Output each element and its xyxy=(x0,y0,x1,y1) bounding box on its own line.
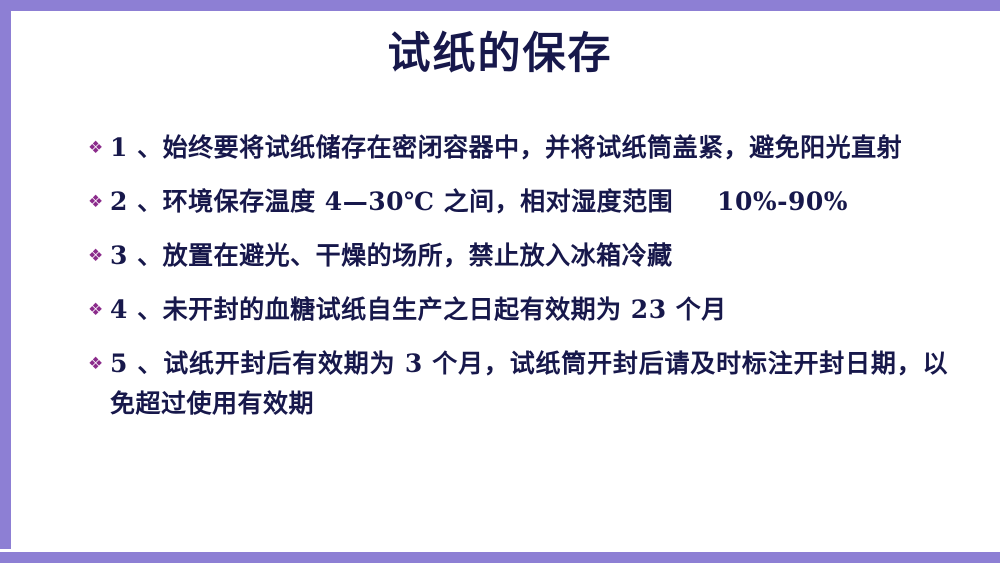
diamond-bullet-icon: ❖ xyxy=(88,344,110,384)
diamond-bullet-icon: ❖ xyxy=(88,182,110,222)
list-item-text: 3 、放置在避光、干燥的场所，禁止放入冰箱冷藏 xyxy=(110,236,948,276)
decorative-top-bar xyxy=(0,0,1000,11)
diamond-bullet-icon: ❖ xyxy=(88,290,110,330)
list-item-text: 5 、试纸开封后有效期为 3 个月，试纸筒开封后请及时标注开封日期，以免超过使用… xyxy=(110,344,948,424)
list-item: ❖ 2 、环境保存温度 4—30℃ 之间，相对湿度范围 10%-90% xyxy=(88,182,948,222)
list-item: ❖ 5 、试纸开封后有效期为 3 个月，试纸筒开封后请及时标注开封日期，以免超过… xyxy=(88,344,948,424)
list-item-text: 1 、始终要将试纸储存在密闭容器中，并将试纸筒盖紧，避免阳光直射 xyxy=(110,128,948,168)
slide: 试纸的保存 ❖ 1 、始终要将试纸储存在密闭容器中，并将试纸筒盖紧，避免阳光直射… xyxy=(0,0,1000,563)
slide-title: 试纸的保存 xyxy=(0,30,1000,79)
decorative-left-bar xyxy=(0,0,11,563)
list-item-text: 2 、环境保存温度 4—30℃ 之间，相对湿度范围 10%-90% xyxy=(110,182,948,222)
diamond-bullet-icon: ❖ xyxy=(88,236,110,276)
list-item: ❖ 1 、始终要将试纸储存在密闭容器中，并将试纸筒盖紧，避免阳光直射 xyxy=(88,128,948,168)
list-item-text: 4 、未开封的血糖试纸自生产之日起有效期为 23 个月 xyxy=(110,290,948,330)
decorative-bottom-accent xyxy=(0,549,1000,552)
decorative-bottom-bar xyxy=(0,552,1000,563)
bullet-list: ❖ 1 、始终要将试纸储存在密闭容器中，并将试纸筒盖紧，避免阳光直射 ❖ 2 、… xyxy=(88,128,948,438)
list-item: ❖ 3 、放置在避光、干燥的场所，禁止放入冰箱冷藏 xyxy=(88,236,948,276)
list-item: ❖ 4 、未开封的血糖试纸自生产之日起有效期为 23 个月 xyxy=(88,290,948,330)
diamond-bullet-icon: ❖ xyxy=(88,128,110,168)
